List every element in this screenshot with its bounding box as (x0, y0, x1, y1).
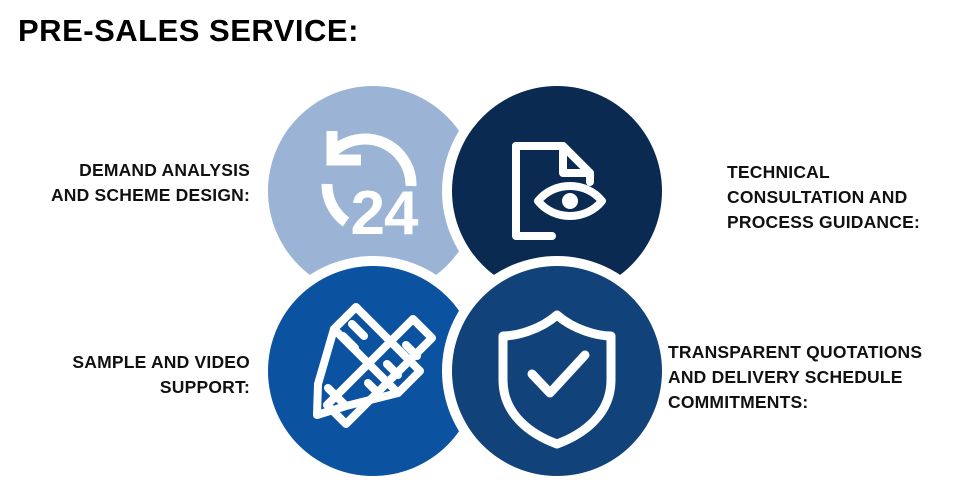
24-hours-icon-text: 24 (351, 179, 419, 248)
label-sample-video-support-line-2: SUPPORT: (8, 375, 250, 400)
label-sample-video-support-line-1: SAMPLE AND VIDEO (8, 350, 250, 375)
label-sample-video-support: SAMPLE AND VIDEO SUPPORT: (8, 350, 250, 400)
label-technical-consultation: TECHNICAL CONSULTATION AND PROCESS GUIDA… (727, 160, 957, 235)
label-demand-analysis-line-2: AND SCHEME DESIGN: (8, 183, 250, 208)
label-transparent-quotations-line-3: COMMITMENTS: (668, 390, 960, 415)
label-demand-analysis: DEMAND ANALYSIS AND SCHEME DESIGN: (8, 158, 250, 208)
circle-cluster: 24 (260, 74, 672, 488)
label-demand-analysis-line-1: DEMAND ANALYSIS (8, 158, 250, 183)
label-technical-consultation-line-2: CONSULTATION AND (727, 185, 957, 210)
label-technical-consultation-line-1: TECHNICAL (727, 160, 957, 185)
label-transparent-quotations-line-1: TRANSPARENT QUOTATIONS (668, 340, 960, 365)
label-transparent-quotations-line-2: AND DELIVERY SCHEDULE (668, 365, 960, 390)
label-transparent-quotations: TRANSPARENT QUOTATIONS AND DELIVERY SCHE… (668, 340, 960, 415)
circle-transparent-quotations[interactable] (442, 256, 672, 486)
page-title: PRE-SALES SERVICE: (18, 14, 359, 48)
label-technical-consultation-line-3: PROCESS GUIDANCE: (727, 210, 957, 235)
pre-sales-service-infographic: PRE-SALES SERVICE: 24 (0, 0, 960, 498)
